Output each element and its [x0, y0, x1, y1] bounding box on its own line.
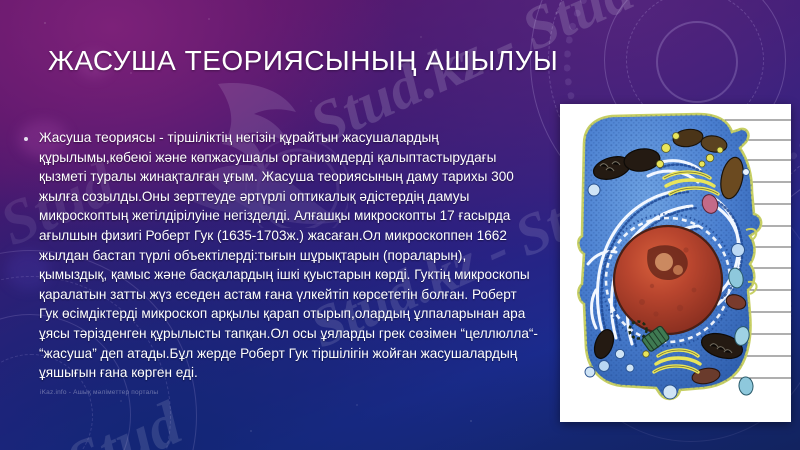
slide-title: ЖАСУША ТЕОРИЯСЫНЫҢ АШЫЛУЫ: [48, 45, 558, 77]
bg-speck: [44, 22, 46, 24]
bullet-paragraph: Жасуша теориясы - тіршіліктің негізін құ…: [18, 128, 538, 383]
presentation-slide: Stud.kz - Stud Stud.kz - Stud Stud Stud …: [0, 0, 800, 450]
bg-speck: [208, 18, 210, 20]
cell-diagram-image: [560, 104, 791, 422]
bg-speck: [470, 420, 472, 422]
bg-speck: [250, 430, 252, 432]
nucleus: [614, 226, 722, 334]
slide-body-block: Жасуша теориясы - тіршіліктің негізін құ…: [18, 128, 538, 383]
bg-speck: [356, 404, 358, 406]
watermark-diagonal-bottom: Stud: [56, 388, 192, 450]
cell-diagram-svg: [560, 104, 791, 422]
bg-speck: [310, 100, 312, 102]
watermark-footer-note: iKaz.info - Ашық мәліметтер порталы: [40, 389, 158, 396]
bg-speck: [120, 400, 122, 402]
bg-speck: [420, 36, 422, 38]
bullet-dot-icon: [24, 137, 28, 141]
slide-body-text: Жасуша теориясы - тіршіліктің негізін құ…: [39, 128, 538, 383]
